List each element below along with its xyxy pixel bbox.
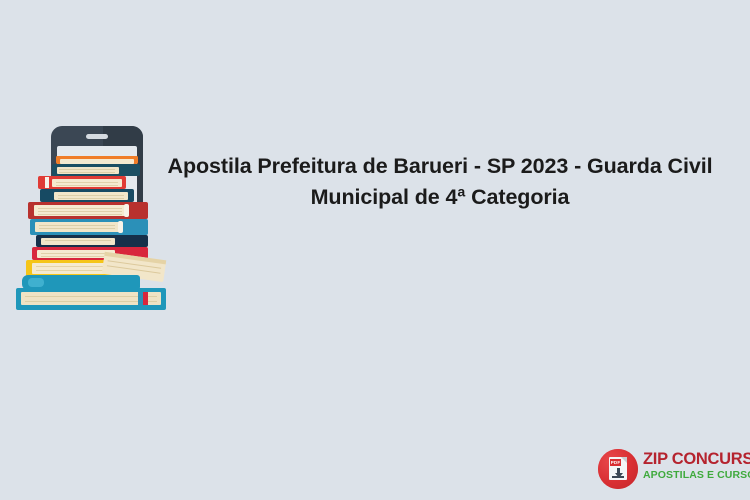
bookmark-ribbon-red — [143, 292, 148, 305]
document-fold-corner — [621, 457, 627, 463]
book-maroon-fifth — [28, 202, 148, 219]
page-title: Apostila Prefeitura de Barueri - SP 2023… — [166, 151, 714, 213]
book-darknavy-seventh — [36, 235, 148, 247]
book-navy-fourth — [40, 189, 134, 202]
logo-title: ZIP CONCURSOS — [643, 450, 738, 469]
pdf-download-icon: PDF — [598, 449, 638, 489]
pdf-badge: PDF — [610, 459, 621, 466]
promo-banner: Apostila Prefeitura de Barueri - SP 2023… — [0, 0, 750, 500]
book-stack-illustration — [8, 118, 178, 313]
logo-wordmark: ZIP CONCURSOS APOSTILAS E CURSOS — [643, 450, 738, 482]
book-orange-top-cover — [56, 156, 138, 159]
download-base-bar — [612, 476, 624, 478]
document-icon: PDF — [609, 457, 627, 480]
book-teal-base — [16, 288, 166, 310]
book-red-third — [38, 176, 126, 189]
book-teal-second — [52, 164, 140, 176]
logo-subtitle: APOSTILAS E CURSOS — [643, 469, 733, 482]
zip-concursos-logo[interactable]: PDF ZIP CONCURSOS APOSTILAS E CURSOS — [598, 449, 736, 491]
book-blue-sixth — [30, 219, 148, 235]
tablet-speaker-icon — [86, 134, 108, 139]
